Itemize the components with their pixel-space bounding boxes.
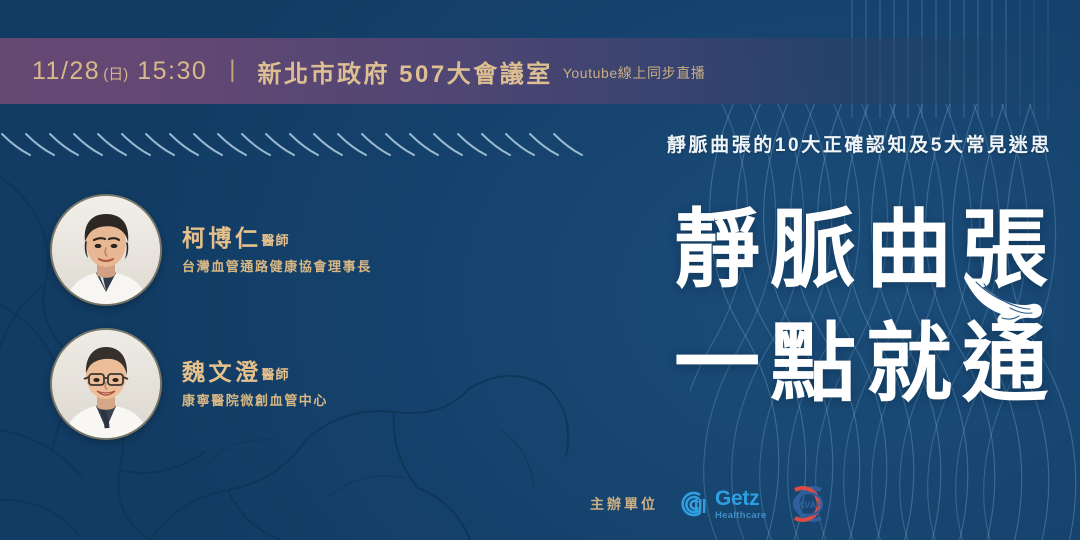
speaker-name-1: 柯博仁醫師: [182, 225, 372, 251]
event-venue: 新北市政府 507大會議室: [258, 54, 553, 89]
getz-spiral-icon: [674, 487, 708, 521]
speaker-name-text-1: 柯博仁: [182, 225, 262, 251]
tavar-text: TAVAR: [792, 500, 823, 511]
speaker-role-1: 台灣血管通路健康協會理事長: [182, 256, 372, 275]
getz-text-block: Getz Healthcare: [715, 488, 767, 521]
getz-subtitle: Healthcare: [715, 511, 767, 521]
event-date: 11/28: [32, 57, 100, 86]
event-weekday: (日): [103, 63, 128, 84]
speaker-title-suffix-2: 醫師: [262, 367, 290, 382]
speaker-name-text-2: 魏文澄: [182, 359, 262, 385]
getz-name: Getz: [715, 488, 767, 509]
getz-healthcare-logo[interactable]: Getz Healthcare: [674, 487, 767, 521]
speaker-title-suffix-1: 醫師: [262, 233, 290, 248]
speaker-role-2: 康寧醫院微創血管中心: [182, 390, 328, 409]
tavar-logo[interactable]: TAVAR: [783, 482, 833, 526]
footer-sponsors: 主辦單位 Getz Healthcare: [590, 482, 833, 526]
livestream-note: Youtube線上同步直播: [563, 63, 706, 83]
speaker-info-2: 魏文澄醫師 康寧醫院微創血管中心: [182, 359, 328, 409]
event-time: 15:30: [137, 57, 207, 86]
poster-banner: 11/28 (日) 15:30 | 新北市政府 507大會議室 Youtube線…: [0, 0, 1080, 540]
event-subtitle: 靜脈曲張的10大正確認知及5大常見迷思: [667, 130, 1052, 157]
band-separator: |: [229, 56, 235, 84]
speaker-card-1: 柯博仁醫師 台灣血管通路健康協會理事長: [52, 196, 372, 304]
leg-varicose-icon: [962, 262, 1046, 332]
avatar: [52, 196, 160, 304]
speaker-card-2: 魏文澄醫師 康寧醫院微創血管中心: [52, 330, 328, 438]
speaker-info-1: 柯博仁醫師 台灣血管通路健康協會理事長: [182, 225, 372, 275]
avatar: [52, 330, 160, 438]
speaker-name-2: 魏文澄醫師: [182, 359, 328, 385]
speaker-photo-2: [52, 330, 160, 438]
speaker-photo-1: [52, 196, 160, 304]
organizer-label: 主辦單位: [590, 494, 658, 514]
diagonal-slash-decoration: [0, 128, 600, 162]
schedule-band: 11/28 (日) 15:30 | 新北市政府 507大會議室 Youtube線…: [0, 38, 1080, 104]
